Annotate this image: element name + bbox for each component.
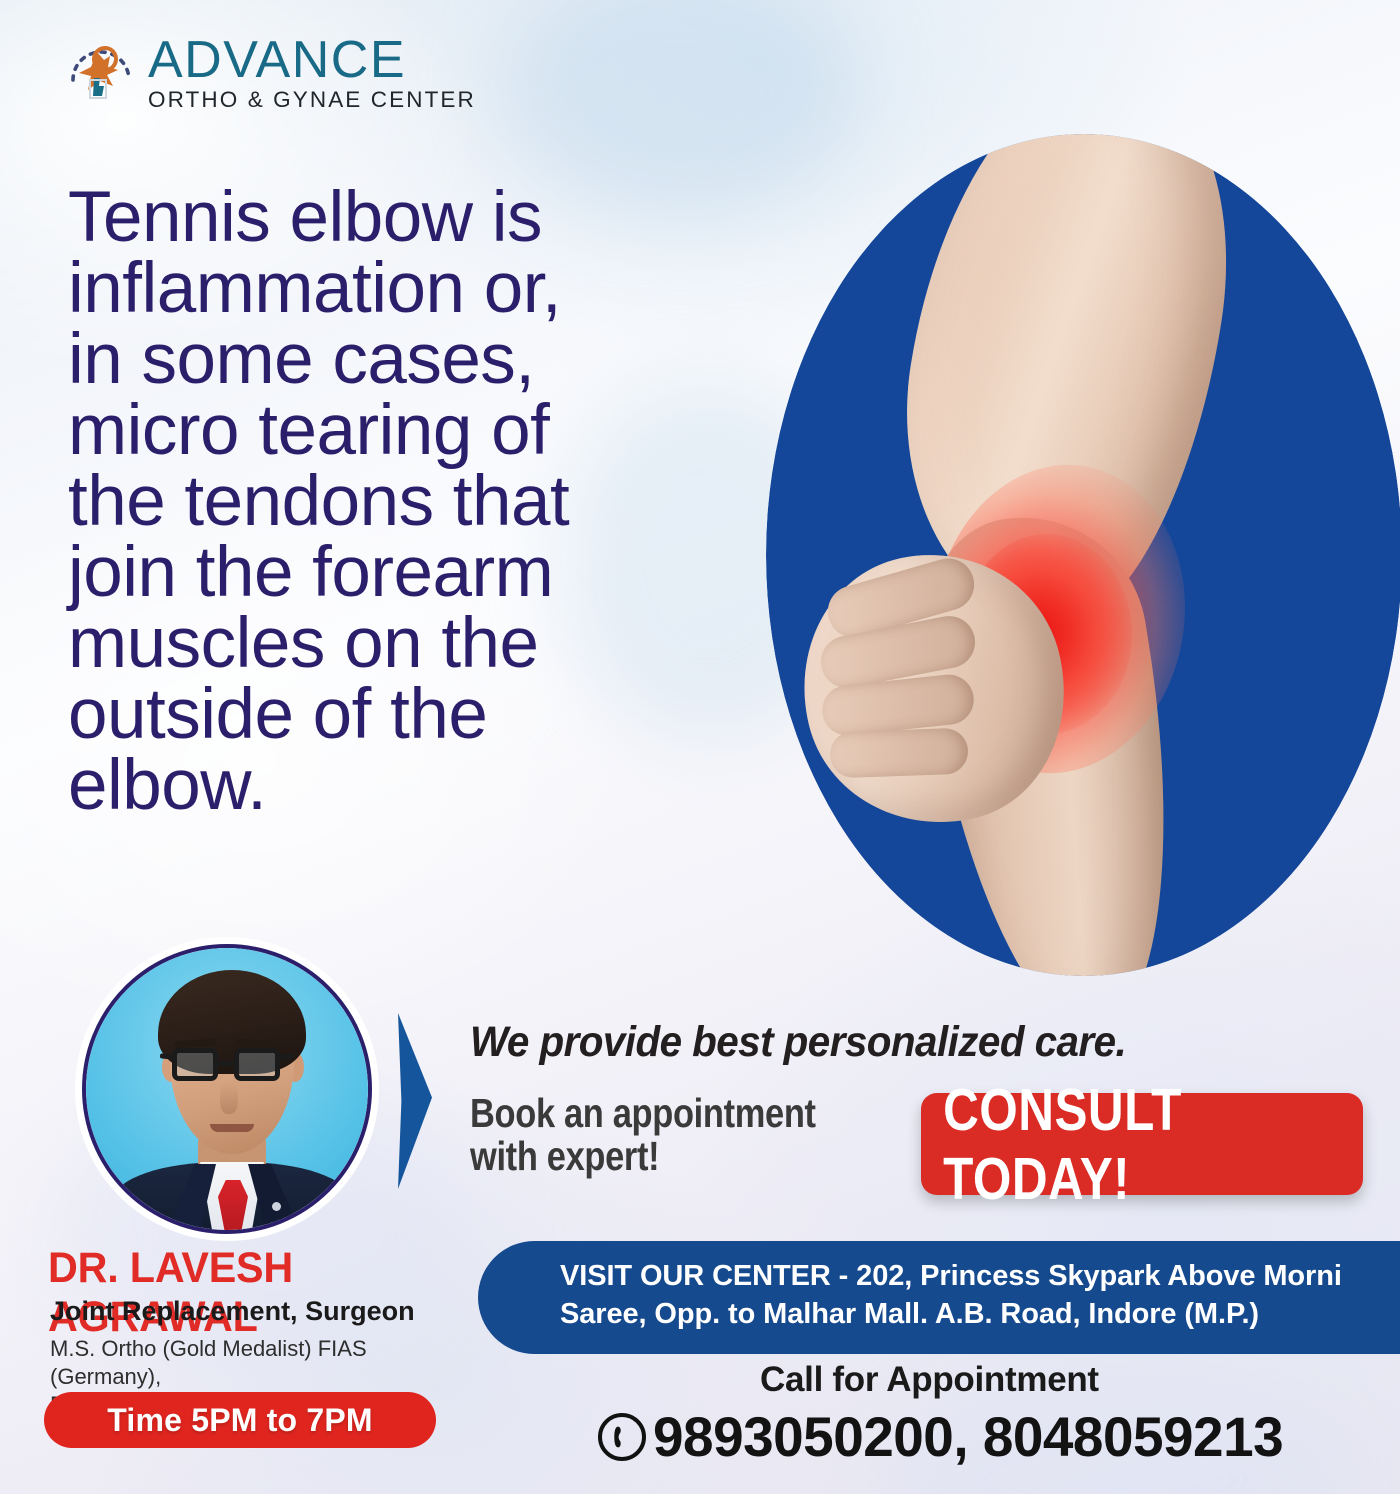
consult-today-button[interactable]: CONSULT TODAY!	[921, 1093, 1363, 1195]
brand-name: ADVANCE	[148, 34, 476, 86]
consultation-time-badge: Time 5PM to 7PM	[44, 1392, 436, 1448]
finger-shape	[829, 728, 969, 779]
book-appointment-text: Book an appointment with expert!	[470, 1092, 856, 1179]
phone-numbers: 9893050200, 8048059213	[653, 1404, 1283, 1469]
doctor-portrait	[86, 948, 368, 1230]
consult-today-label: CONSULT TODAY!	[943, 1075, 1341, 1213]
eyeglasses-lens-right	[234, 1048, 280, 1081]
address-banner: VISIT OUR CENTER - 202, Princess Skypark…	[478, 1241, 1400, 1354]
poster-canvas: ADVANCE ORTHO & GYNAE CENTER Tennis elbo…	[0, 0, 1400, 1494]
doctor-role: Joint Replacement, Surgeon	[50, 1296, 520, 1327]
doctor-avatar	[82, 944, 372, 1234]
doctor-name: DR. LAVESH AGRAWAL	[48, 1244, 499, 1342]
eyeglasses-lens-left	[172, 1048, 218, 1081]
phone-numbers-row[interactable]: 9893050200, 8048059213	[598, 1404, 1296, 1469]
chevron-right-arrow-icon	[398, 1013, 432, 1189]
headline-text: Tennis elbow is inflammation or, in some…	[68, 182, 748, 821]
brand-wordmark: ADVANCE ORTHO & GYNAE CENTER	[148, 34, 476, 112]
tagline-text: We provide best personalized care.	[470, 1018, 1297, 1067]
brand-subtitle: ORTHO & GYNAE CENTER	[148, 89, 476, 112]
consultation-time-label: Time 5PM to 7PM	[107, 1402, 373, 1439]
eyeglasses-bridge	[218, 1061, 236, 1066]
nose-shape	[220, 1082, 238, 1114]
advance-ortho-logo-icon	[64, 36, 138, 110]
phone-handset-icon	[598, 1413, 646, 1461]
eyeglasses-temple-left	[160, 1053, 174, 1059]
hero-elbow-image	[766, 134, 1400, 976]
lapel-pin	[272, 1202, 281, 1211]
hero-circle-background	[766, 134, 1400, 976]
call-for-appointment-title: Call for Appointment	[760, 1360, 1400, 1400]
address-text: VISIT OUR CENTER - 202, Princess Skypark…	[560, 1257, 1370, 1334]
brand-logo: ADVANCE ORTHO & GYNAE CENTER	[64, 34, 476, 112]
mouth-shape	[210, 1124, 254, 1132]
